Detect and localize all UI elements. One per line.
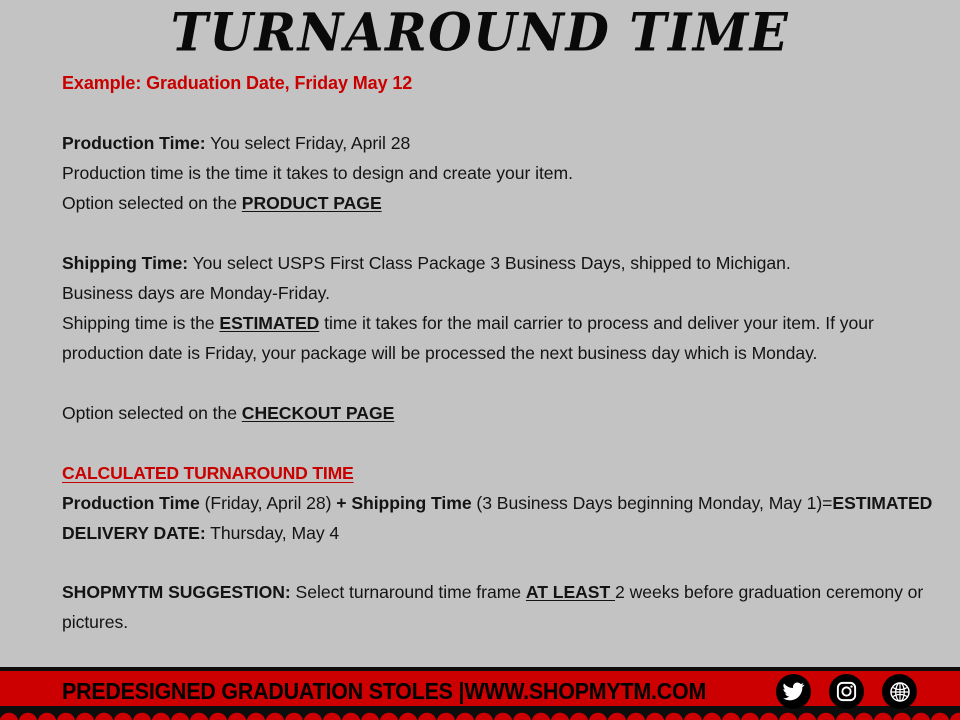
example-text: Example: Graduation Date, Friday May 12 xyxy=(62,68,942,98)
production-block: Production Time: You select Friday, Apri… xyxy=(62,128,942,218)
spacer xyxy=(62,98,942,128)
spacer xyxy=(62,368,942,398)
suggestion-block: SHOPMYTM SUGGESTION: Select turnaround t… xyxy=(62,577,942,637)
shipping-value: You select USPS First Class Package 3 Bu… xyxy=(188,253,791,273)
calc-shipping-label: + Shipping Time xyxy=(336,493,471,513)
production-value: You select Friday, April 28 xyxy=(206,133,411,153)
suggestion-label: SHOPMYTM SUGGESTION: xyxy=(62,582,291,602)
checkout-line: Option selected on the CHECKOUT PAGE xyxy=(62,398,942,428)
slide-canvas: TURNAROUND TIME Example: Graduation Date… xyxy=(0,0,960,720)
calculated-heading: CALCULATED TURNAROUND TIME xyxy=(62,458,942,488)
calc-production-value: (Friday, April 28) xyxy=(200,493,337,513)
spacer xyxy=(62,548,942,577)
page-title: TURNAROUND TIME xyxy=(0,2,960,63)
slide-body: Example: Graduation Date, Friday May 12 … xyxy=(62,68,942,637)
globe-icon[interactable] xyxy=(882,674,917,709)
spacer xyxy=(62,218,942,248)
estimated-emphasis: ESTIMATED xyxy=(219,313,319,333)
shipping-block: Shipping Time: You select USPS First Cla… xyxy=(62,248,942,368)
calculated-formula: Production Time (Friday, April 28) + Shi… xyxy=(62,493,932,543)
production-line-1: Production Time: You select Friday, Apri… xyxy=(62,128,942,158)
shipping-para-a: Shipping time is the xyxy=(62,313,219,333)
calc-delivery-value: Thursday, May 4 xyxy=(206,523,340,543)
spacer xyxy=(62,428,942,458)
calculated-block: CALCULATED TURNAROUND TIME Production Ti… xyxy=(62,458,942,548)
production-option-prefix: Option selected on the xyxy=(62,193,242,213)
shipping-paragraph: Shipping time is the ESTIMATED time it t… xyxy=(62,313,874,363)
calc-production-label: Production Time xyxy=(62,493,200,513)
example-line: Example: Graduation Date, Friday May 12 xyxy=(62,68,942,98)
suggestion-text-a: Select turnaround time frame xyxy=(291,582,526,602)
footer-text: PREDESIGNED GRADUATION STOLES |WWW.SHOPM… xyxy=(62,676,706,706)
checkout-prefix: Option selected on the xyxy=(62,403,242,423)
product-page-emphasis: PRODUCT PAGE xyxy=(242,193,382,213)
at-least-emphasis: AT LEAST xyxy=(526,582,615,602)
checkout-page-emphasis: CHECKOUT PAGE xyxy=(242,403,395,423)
shipping-line-2: Business days are Monday-Friday. xyxy=(62,278,942,308)
production-label: Production Time: xyxy=(62,133,206,153)
calc-shipping-value: (3 Business Days beginning Monday, May 1… xyxy=(472,493,833,513)
shipping-line-1: Shipping Time: You select USPS First Cla… xyxy=(62,248,942,278)
social-links xyxy=(776,674,917,709)
shipping-label: Shipping Time: xyxy=(62,253,188,273)
twitter-icon[interactable] xyxy=(776,674,811,709)
production-line-2: Production time is the time it takes to … xyxy=(62,158,942,188)
checkout-block: Option selected on the CHECKOUT PAGE xyxy=(62,398,942,428)
instagram-icon[interactable] xyxy=(829,674,864,709)
suggestion-paragraph: SHOPMYTM SUGGESTION: Select turnaround t… xyxy=(62,582,923,632)
production-line-3: Option selected on the PRODUCT PAGE xyxy=(62,188,942,218)
